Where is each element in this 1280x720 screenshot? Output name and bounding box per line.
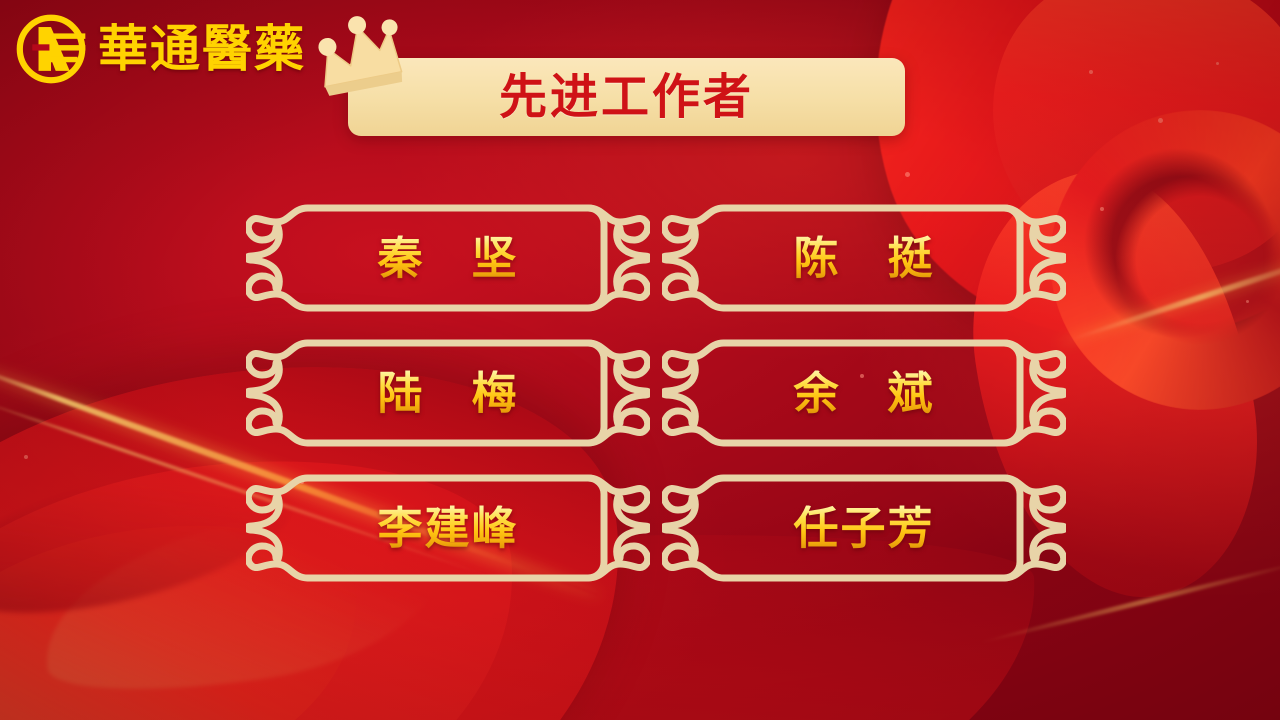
honoree-plaque[interactable]: 余 斌 [662, 331, 1066, 455]
honoree-name: 秦 坚 [246, 236, 650, 281]
honoree-name: 任子芳 [662, 506, 1066, 551]
page-title: 先进工作者 [499, 73, 754, 121]
honoree-name: 陈 挺 [662, 236, 1066, 281]
honoree-plaque[interactable]: 秦 坚 [246, 196, 650, 320]
honoree-name: 李建峰 [246, 506, 650, 551]
honoree-row: 秦 坚 陈 挺 [246, 196, 1066, 320]
huatong-circle-emblem-icon [12, 10, 90, 88]
title-banner: 先进工作者 [348, 58, 905, 136]
honoree-row: 陆 梅 余 斌 [246, 331, 1066, 455]
crown-icon [302, 12, 414, 104]
honoree-name: 陆 梅 [246, 371, 650, 416]
honoree-plaque[interactable]: 陆 梅 [246, 331, 650, 455]
honoree-plaque[interactable]: 李建峰 [246, 466, 650, 590]
brand-name: 華通醫藥 [98, 24, 306, 74]
brand-logo: 華通醫藥 [12, 10, 306, 88]
honoree-plaque-grid: 秦 坚 陈 挺 [246, 196, 1066, 596]
honoree-row: 李建峰 任子芳 [246, 466, 1066, 590]
award-slide: 華通醫藥 先进工作者 [0, 0, 1280, 720]
honoree-name: 余 斌 [662, 371, 1066, 416]
honoree-plaque[interactable]: 陈 挺 [662, 196, 1066, 320]
honoree-plaque[interactable]: 任子芳 [662, 466, 1066, 590]
